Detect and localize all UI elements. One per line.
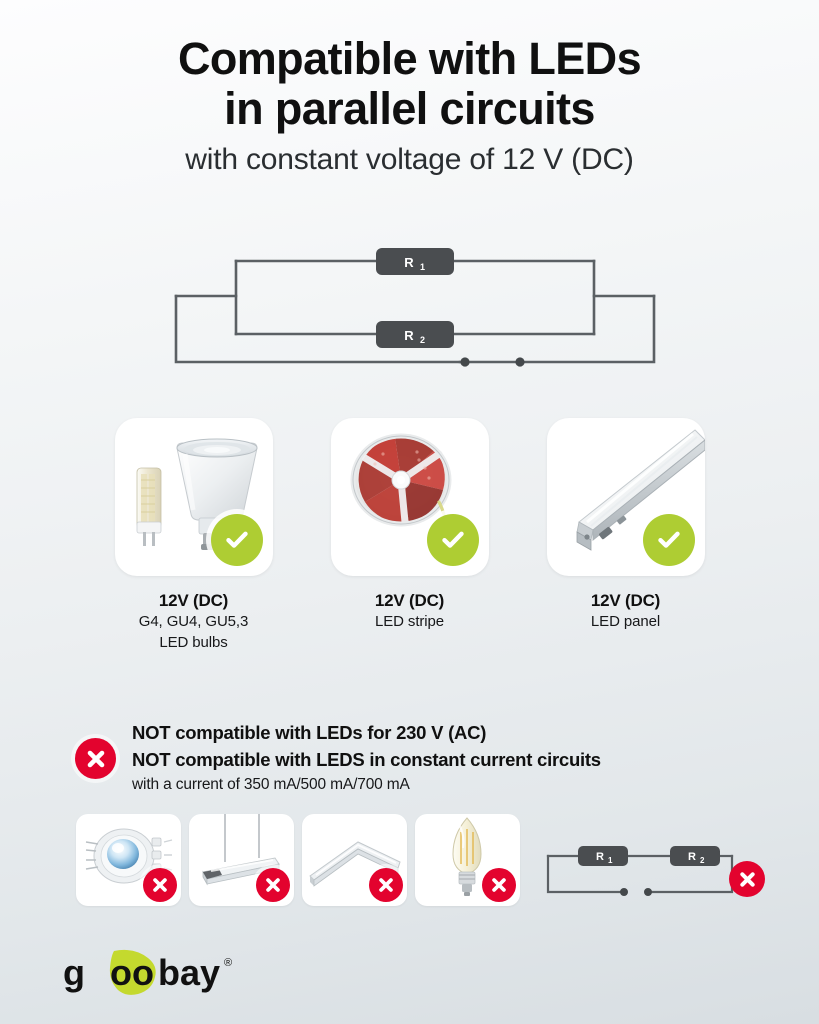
resistor-r1-label: R xyxy=(404,255,414,270)
logo-text-after: bay xyxy=(158,952,220,993)
cross-badge xyxy=(482,868,516,902)
card-desc-line1: LED panel xyxy=(591,612,660,633)
logo-text-eyes: oo xyxy=(110,952,154,993)
page-title-line2: in parallel circuits xyxy=(0,84,819,134)
g4-capsule xyxy=(137,468,161,546)
card-voltage: 12V (DC) xyxy=(591,589,660,612)
card-caption: 12V (DC) LED panel xyxy=(591,589,660,633)
cross-badge xyxy=(256,868,290,902)
resistor-r2-sub: 2 xyxy=(420,335,425,345)
check-badge xyxy=(427,514,479,566)
logo-text-before: g xyxy=(63,952,85,993)
notice-text-block: NOT compatible with LEDs for 230 V (AC) … xyxy=(132,718,601,796)
resistor-r2-label: R xyxy=(404,328,414,343)
page-title-line1: Compatible with LEDs xyxy=(0,34,819,84)
cross-icon xyxy=(85,748,107,770)
incompatible-thumbs-row xyxy=(76,814,520,906)
resistor-r1: R 1 xyxy=(376,248,454,275)
card-voltage: 12V (DC) xyxy=(139,589,248,612)
series-resistor-r2-sub: 2 xyxy=(700,856,705,865)
product-card xyxy=(547,418,705,576)
card-caption: 12V (DC) LED stripe xyxy=(375,589,444,633)
cross-icon xyxy=(377,876,395,894)
product-card xyxy=(331,418,489,576)
cross-badge xyxy=(75,738,116,779)
goobay-logo: g oo bay ® xyxy=(56,948,256,1000)
incompatible-thumb xyxy=(76,814,181,906)
page-header: Compatible with LEDs in parallel circuit… xyxy=(0,34,819,177)
page-subtitle: with constant voltage of 12 V (DC) xyxy=(0,143,819,177)
series-resistor-r2-label: R xyxy=(688,851,696,863)
card-caption: 12V (DC) G4, GU4, GU5,3 LED bulbs xyxy=(139,589,248,654)
series-terminal-dot-left xyxy=(620,888,628,896)
product-card xyxy=(115,418,273,576)
wire-right-outer xyxy=(460,296,654,362)
notice-line-2: NOT compatible with LEDS in constant cur… xyxy=(132,747,601,774)
notice-line-3: with a current of 350 mA/500 mA/700 mA xyxy=(132,774,601,796)
card-voltage: 12V (DC) xyxy=(375,589,444,612)
cross-badge xyxy=(729,861,765,897)
incompatible-thumb xyxy=(302,814,407,906)
logo-registered-mark: ® xyxy=(224,957,232,969)
check-badge xyxy=(211,514,263,566)
series-circuit-diagram: R 1 R 2 xyxy=(536,836,768,908)
cross-icon xyxy=(264,876,282,894)
cross-badge xyxy=(369,868,403,902)
parallel-circuit-diagram: R 1 R 2 xyxy=(160,240,670,375)
resistor-r2: R 2 xyxy=(376,321,454,348)
cross-icon xyxy=(738,870,757,889)
check-icon xyxy=(222,525,252,555)
check-icon xyxy=(654,525,684,555)
notice-line-1: NOT compatible with LEDs for 230 V (AC) xyxy=(132,720,601,747)
compatible-card-led-stripe: 12V (DC) LED stripe xyxy=(323,418,496,654)
terminal-dot-right xyxy=(515,357,524,366)
incompatible-thumb xyxy=(415,814,520,906)
infographic-page: Compatible with LEDs in parallel circuit… xyxy=(0,0,819,1024)
series-terminal-dot-right xyxy=(644,888,652,896)
compatible-card-led-panel: 12V (DC) LED panel xyxy=(539,418,712,654)
incompatible-thumb xyxy=(189,814,294,906)
compatible-card-led-bulbs: 12V (DC) G4, GU4, GU5,3 LED bulbs xyxy=(107,418,280,654)
series-resistor-r1-label: R xyxy=(596,851,604,863)
resistor-r1-sub: 1 xyxy=(420,262,425,272)
series-resistor-r1-sub: 1 xyxy=(608,856,613,865)
check-badge xyxy=(643,514,695,566)
series-resistor-r1: R 1 xyxy=(578,846,628,866)
terminal-dot-left xyxy=(460,357,469,366)
candle-bulb xyxy=(453,818,481,896)
card-desc-line1: G4, GU4, GU5,3 xyxy=(139,612,248,633)
cross-badge xyxy=(143,868,177,902)
card-desc-line1: LED stripe xyxy=(375,612,444,633)
card-desc-line2: LED bulbs xyxy=(139,633,248,654)
cross-icon xyxy=(151,876,169,894)
compatible-cards-row: 12V (DC) G4, GU4, GU5,3 LED bulbs xyxy=(0,418,819,654)
incompatibility-notice: NOT compatible with LEDs for 230 V (AC) … xyxy=(75,718,775,796)
series-resistor-r2: R 2 xyxy=(670,846,720,866)
check-icon xyxy=(438,525,468,555)
cross-icon xyxy=(490,876,508,894)
